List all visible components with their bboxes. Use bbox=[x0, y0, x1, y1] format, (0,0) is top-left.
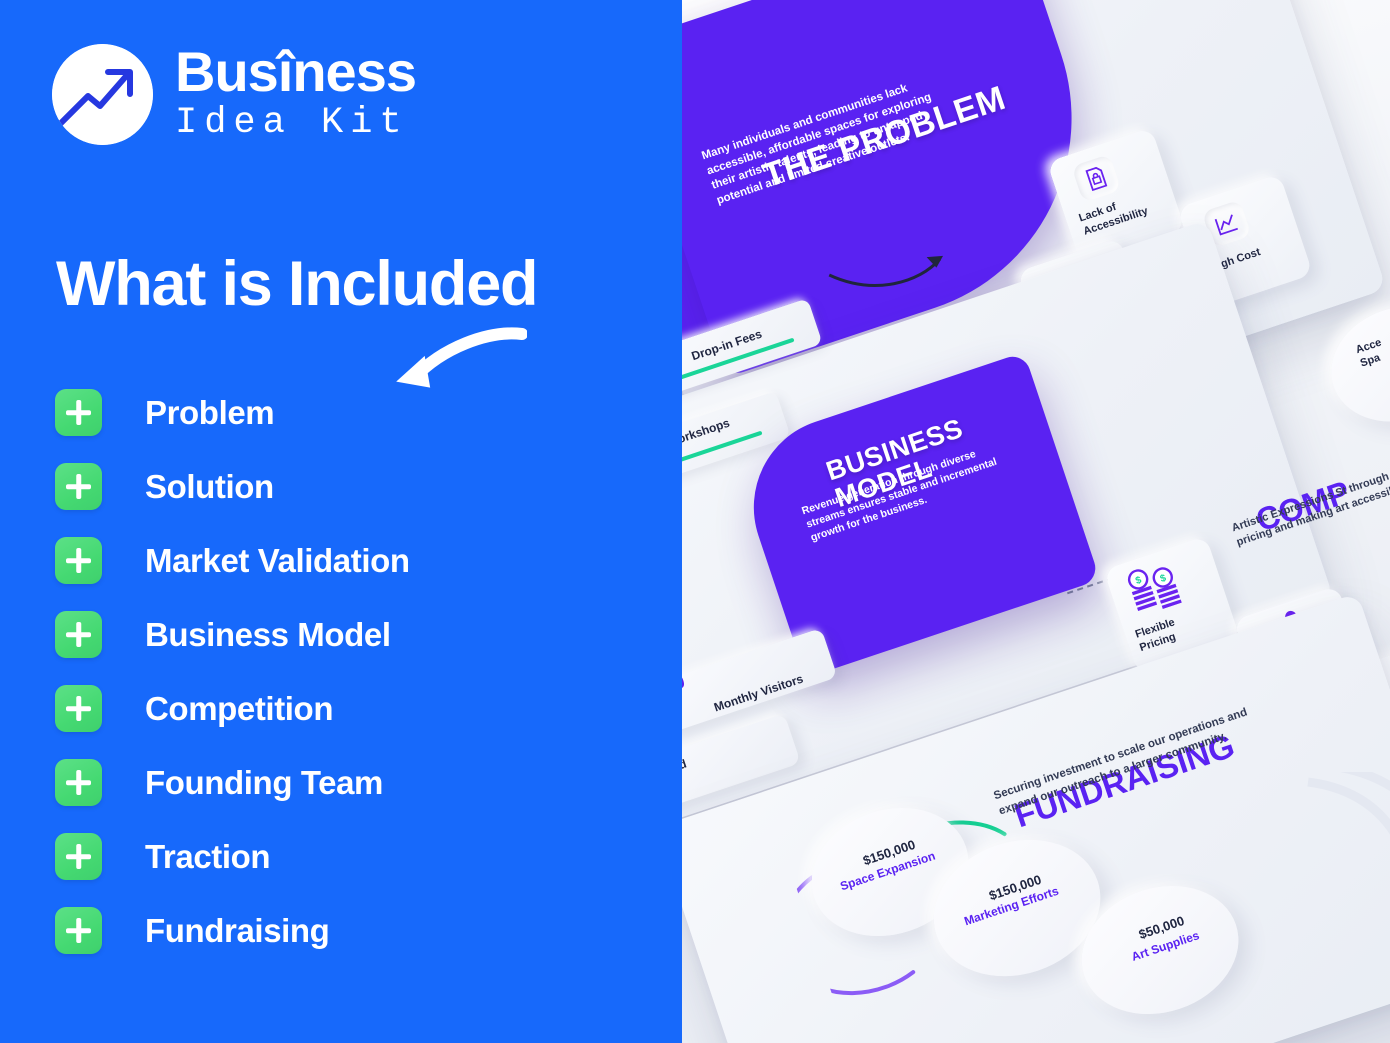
locked-document-icon-well bbox=[1071, 154, 1121, 203]
list-item-label: Problem bbox=[145, 394, 274, 432]
included-feature-list: Problem Solution Market Validation Busin… bbox=[55, 389, 410, 981]
slide-mockups-panel: THE PROBLEM Many individuals and communi… bbox=[640, 0, 1390, 1043]
list-item-label: Competition bbox=[145, 690, 333, 728]
list-item[interactable]: Fundraising bbox=[55, 907, 410, 954]
list-item[interactable]: Problem bbox=[55, 389, 410, 436]
plus-icon bbox=[55, 907, 102, 954]
line-chart-icon bbox=[1213, 211, 1240, 237]
list-item[interactable]: Business Model bbox=[55, 611, 410, 658]
plus-icon bbox=[55, 685, 102, 732]
list-item-label: Solution bbox=[145, 468, 274, 506]
list-item-label: Market Validation bbox=[145, 542, 410, 580]
plus-icon bbox=[55, 759, 102, 806]
curved-down-left-arrow-icon bbox=[382, 326, 527, 398]
fundraising-decorative-arcs bbox=[1298, 772, 1390, 952]
plus-icon bbox=[55, 833, 102, 880]
brand-lockup: Busîness Idea Kit bbox=[52, 44, 416, 145]
growth-chart-arrow-icon bbox=[52, 44, 153, 145]
brand-logo bbox=[52, 44, 153, 145]
competition-card-1-label: Flexible Pricing bbox=[1134, 616, 1182, 655]
brand-text: Busîness Idea Kit bbox=[175, 45, 416, 144]
list-item-label: Founding Team bbox=[145, 764, 383, 802]
list-item[interactable]: Founding Team bbox=[55, 759, 410, 806]
plus-icon bbox=[55, 611, 102, 658]
money-stack-coins-icon: $ $ bbox=[1122, 555, 1195, 618]
page-title: What is Included bbox=[56, 248, 537, 320]
plus-icon bbox=[55, 537, 102, 584]
list-item[interactable]: Market Validation bbox=[55, 537, 410, 584]
locked-document-icon bbox=[1083, 165, 1109, 192]
brand-title: Busîness bbox=[175, 45, 416, 100]
list-item[interactable]: Solution bbox=[55, 463, 410, 510]
left-info-panel: Busîness Idea Kit What is Included Probl… bbox=[0, 0, 682, 1043]
list-item[interactable]: Competition bbox=[55, 685, 410, 732]
plus-icon bbox=[55, 389, 102, 436]
list-item[interactable]: Traction bbox=[55, 833, 410, 880]
plus-icon bbox=[55, 463, 102, 510]
brand-subtitle: Idea Kit bbox=[175, 102, 416, 145]
list-item-label: Business Model bbox=[145, 616, 391, 654]
list-item-label: Traction bbox=[145, 838, 270, 876]
list-item-label: Fundraising bbox=[145, 912, 329, 950]
